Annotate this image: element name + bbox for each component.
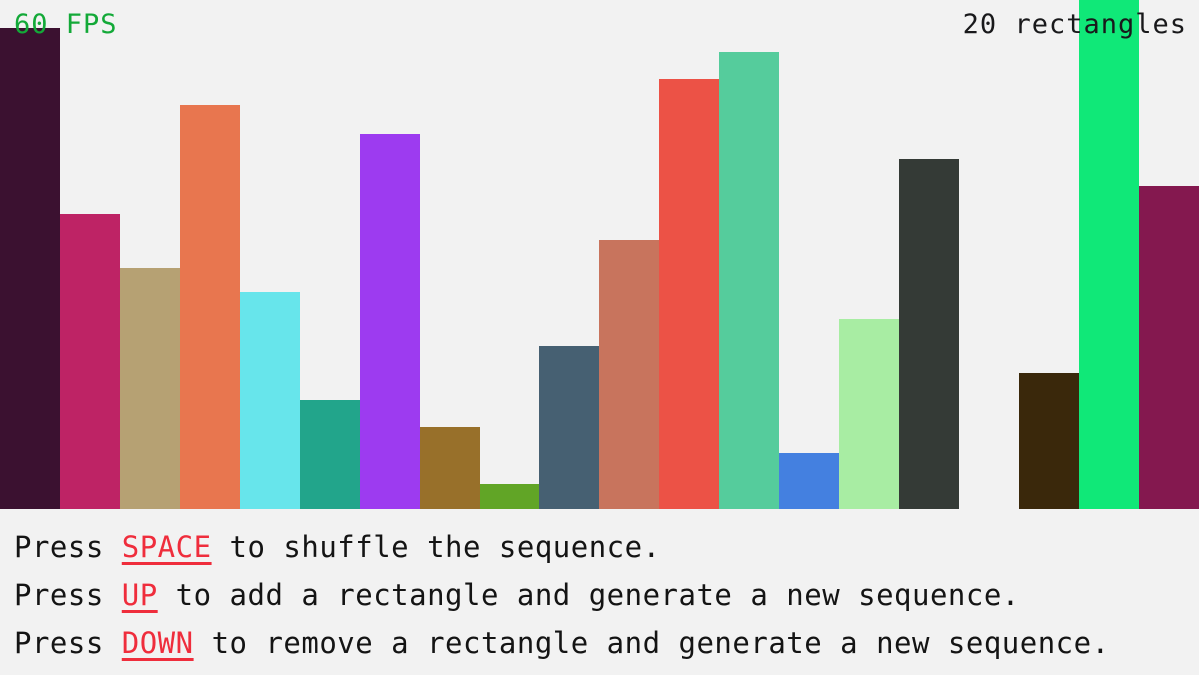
bar-1-dark-plum (0, 28, 60, 509)
key-down[interactable]: DOWN (122, 626, 194, 660)
key-up[interactable]: UP (122, 578, 158, 612)
bar-series (0, 0, 1199, 509)
instructions-panel: Press SPACE to shuffle the sequence.Pres… (0, 509, 1199, 675)
instruction-suffix: to shuffle the sequence. (212, 530, 661, 564)
fps-counter: 60 FPS (14, 11, 118, 38)
bar-18-dark-brown (1019, 373, 1079, 509)
bar-3-tan (120, 268, 180, 509)
bar-11-terracotta (599, 240, 659, 509)
instruction-line-3: Press DOWN to remove a rectangle and gen… (14, 619, 1199, 667)
bar-10-slate-blue (539, 346, 599, 509)
bar-19-bright-green (1079, 0, 1139, 509)
bar-14-royal-blue (779, 453, 839, 509)
instruction-suffix: to remove a rectangle and generate a new… (194, 626, 1110, 660)
bar-4-orange (180, 105, 240, 509)
bar-12-red (659, 79, 719, 509)
rectangle-count-label: 20 rectangles (963, 11, 1187, 38)
instruction-prefix: Press (14, 578, 122, 612)
instruction-suffix: to add a rectangle and generate a new se… (158, 578, 1020, 612)
bar-13-mint (719, 52, 779, 509)
instruction-line-1: Press SPACE to shuffle the sequence. (14, 523, 1199, 571)
app-root: 60 FPS 20 rectangles Press SPACE to shuf… (0, 0, 1199, 675)
instruction-line-2: Press UP to add a rectangle and generate… (14, 571, 1199, 619)
bar-9-olive-green (480, 484, 540, 509)
bar-7-violet (360, 134, 420, 509)
bar-chart-canvas[interactable]: 60 FPS 20 rectangles (0, 0, 1199, 509)
instruction-prefix: Press (14, 626, 122, 660)
instruction-prefix: Press (14, 530, 122, 564)
bar-5-cyan (240, 292, 300, 509)
bar-16-charcoal (899, 159, 959, 509)
bar-8-brown (420, 427, 480, 509)
bar-15-light-green (839, 319, 899, 509)
key-space[interactable]: SPACE (122, 530, 212, 564)
bar-20-dark-magenta (1139, 186, 1199, 509)
bar-6-teal (300, 400, 360, 509)
bar-2-magenta (60, 214, 120, 509)
